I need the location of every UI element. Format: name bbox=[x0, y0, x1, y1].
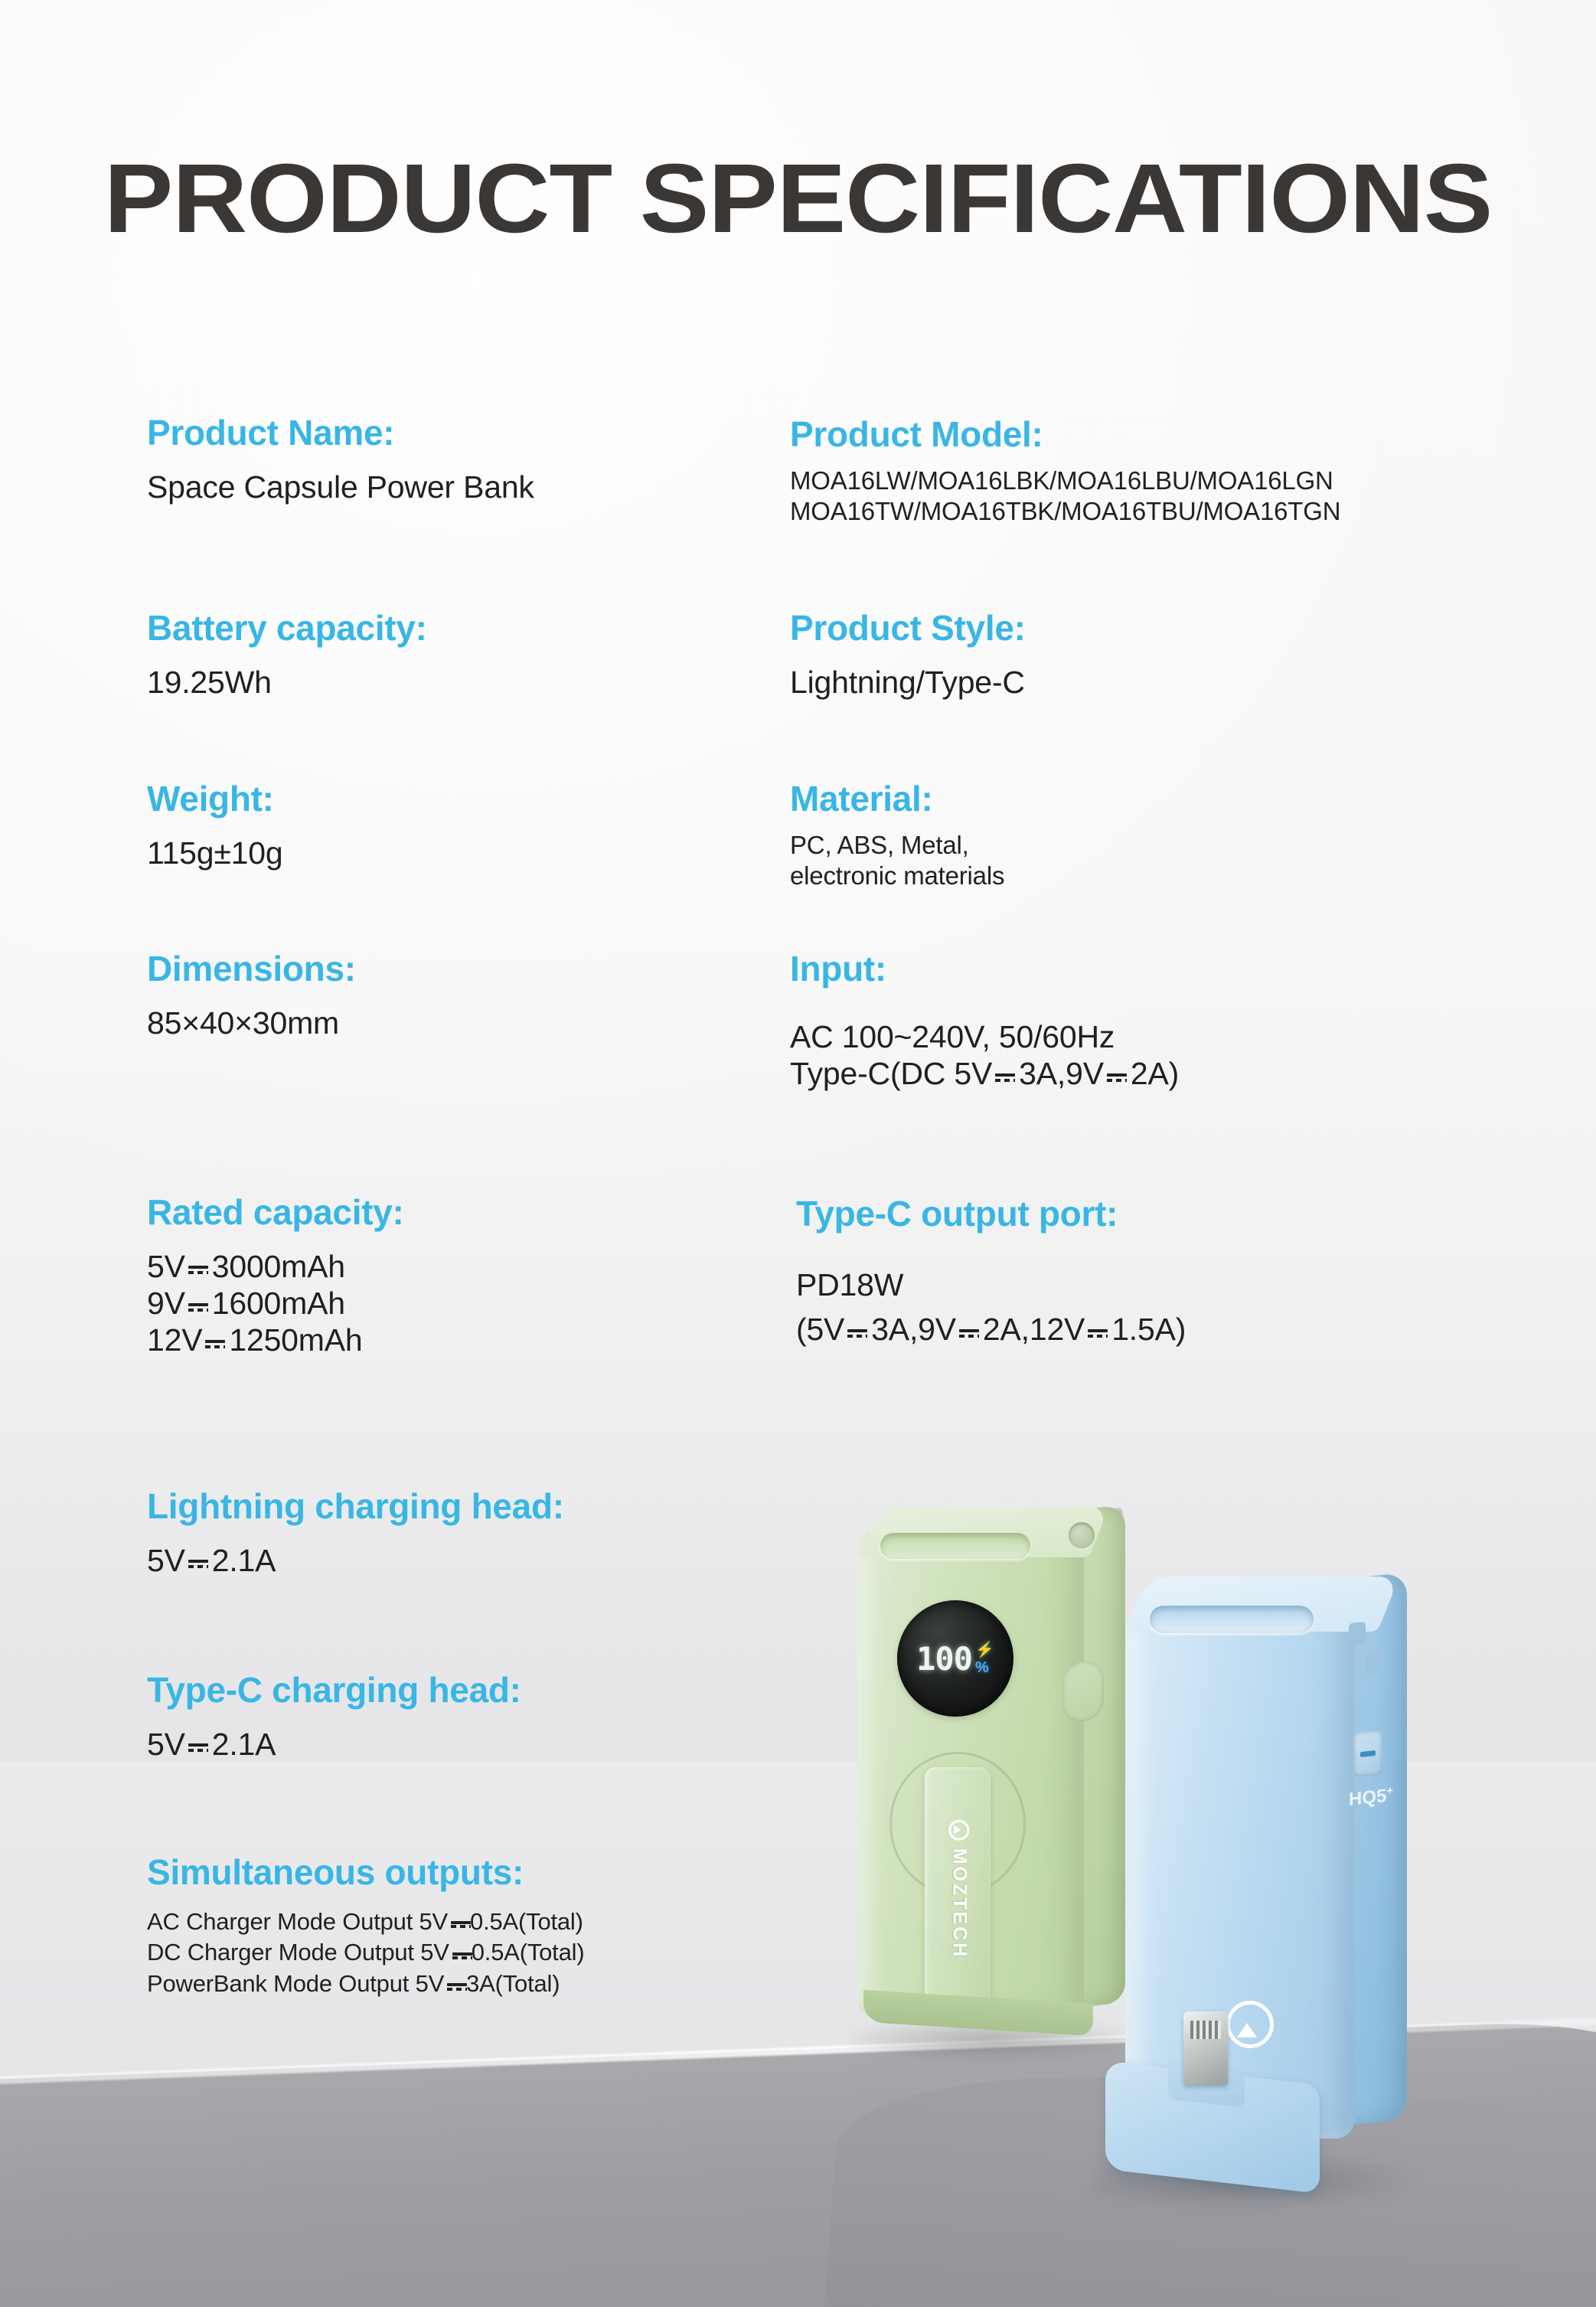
dc-symbol-icon bbox=[1107, 1064, 1127, 1087]
spec-label-product-model: Product Model: bbox=[790, 415, 1340, 455]
typec-output-line-1: PD18W bbox=[796, 1266, 1186, 1303]
simultaneous-row-2: DC Charger Mode Output 5V0.5A(Total) bbox=[147, 1937, 584, 1969]
blue-unit-vent-upper bbox=[1349, 1622, 1366, 1646]
spec-label-typec-output-port: Type-C output port: bbox=[796, 1194, 1186, 1234]
dc-symbol-icon bbox=[451, 1914, 466, 1931]
product-specification-page: PRODUCT SPECIFICATIONS Product Name: Spa… bbox=[0, 0, 1596, 2307]
green-unit-top-slot bbox=[880, 1533, 1030, 1559]
typec-out-5v: (5V bbox=[796, 1312, 844, 1347]
spec-label-typec-charging-head: Type-C charging head: bbox=[147, 1671, 521, 1711]
spec-product-style: Product Style: Lightning/Type-C bbox=[790, 609, 1026, 701]
spec-value-typec-output-port: PD18W (5V3A,9V2A,12V1.5A) bbox=[796, 1266, 1186, 1348]
spec-material: Material: PC, ABS, Metal, electronic mat… bbox=[790, 779, 1004, 892]
simultaneous-row3-mode: PowerBank Mode Output 5V bbox=[147, 1970, 444, 1997]
simultaneous-row2-mode: DC Charger Mode Output 5V bbox=[147, 1939, 449, 1966]
spec-battery-capacity: Battery capacity: 19.25Wh bbox=[147, 609, 427, 701]
dc-symbol-icon bbox=[847, 1320, 867, 1343]
spec-value-product-style: Lightning/Type-C bbox=[790, 664, 1026, 701]
input-5v-3a: 3A,9V bbox=[1019, 1056, 1104, 1091]
input-9v-2a: 2A) bbox=[1131, 1056, 1179, 1091]
page-title: PRODUCT SPECIFICATIONS bbox=[0, 142, 1596, 255]
product-model-line-2: MOA16TW/MOA16TBK/MOA16TBU/MOA16TGN bbox=[790, 496, 1340, 528]
spec-simultaneous-outputs: Simultaneous outputs: AC Charger Mode Ou… bbox=[147, 1853, 584, 2000]
spec-product-model: Product Model: MOA16LW/MOA16LBK/MOA16LBU… bbox=[790, 415, 1340, 528]
spec-value-input: AC 100~240V, 50/60Hz Type-C(DC 5V3A,9V2A… bbox=[790, 1018, 1179, 1093]
spec-label-input: Input: bbox=[790, 949, 1179, 989]
rated-capacity-row-2: 9V1600mAh bbox=[147, 1285, 404, 1322]
simultaneous-row1-mode: AC Charger Mode Output 5V bbox=[147, 1908, 448, 1935]
typec-head-current: 2.1A bbox=[212, 1727, 276, 1762]
typec-out-2a-12v: 2A,12V bbox=[983, 1312, 1085, 1347]
spec-weight: Weight: 115g±10g bbox=[147, 779, 282, 871]
spec-value-product-name: Space Capsule Power Bank bbox=[147, 469, 534, 505]
dc-symbol-icon bbox=[188, 1735, 208, 1758]
simultaneous-row-3: PowerBank Mode Output 5V3A(Total) bbox=[147, 1969, 584, 2000]
port-label-sup: + bbox=[1386, 1784, 1393, 1798]
spec-label-battery-capacity: Battery capacity: bbox=[147, 609, 427, 649]
spec-label-dimensions: Dimensions: bbox=[147, 949, 356, 989]
rated-row1-voltage: 5V bbox=[147, 1249, 185, 1284]
spec-value-material: PC, ABS, Metal, electronic materials bbox=[790, 830, 1004, 893]
dc-symbol-icon bbox=[188, 1551, 208, 1574]
spec-lightning-charging-head: Lightning charging head: 5V2.1A bbox=[147, 1487, 564, 1579]
brand-lockup: MOZTECH bbox=[948, 1819, 971, 1959]
rated-row2-capacity: 1600mAh bbox=[212, 1286, 345, 1321]
spec-value-dimensions: 85×40×30mm bbox=[147, 1005, 356, 1041]
lightning-head-current: 2.1A bbox=[212, 1543, 276, 1578]
charging-bolt-icon: ⚡ bbox=[975, 1642, 994, 1658]
simultaneous-row1-current: 0.5A(Total) bbox=[470, 1908, 583, 1935]
simultaneous-row3-current: 3A(Total) bbox=[466, 1970, 560, 1997]
rated-row3-voltage: 12V bbox=[147, 1322, 202, 1358]
usb-port-insert-icon bbox=[1360, 1750, 1376, 1756]
blue-unit-port-label: HQ5+ bbox=[1349, 1784, 1393, 1811]
brand-name-text: MOZTECH bbox=[948, 1848, 971, 1959]
blue-power-bank: HQ5+ bbox=[1110, 1543, 1431, 2224]
spec-label-simultaneous-outputs: Simultaneous outputs: bbox=[147, 1853, 584, 1893]
spec-value-typec-charging-head: 5V2.1A bbox=[147, 1726, 521, 1763]
spec-input: Input: AC 100~240V, 50/60Hz Type-C(DC 5V… bbox=[790, 949, 1179, 1092]
typec-out-1-5a: 1.5A) bbox=[1111, 1312, 1186, 1347]
typec-out-3a-9v: 3A,9V bbox=[871, 1312, 956, 1347]
typec-head-voltage: 5V bbox=[147, 1727, 185, 1762]
lightning-connector-pins-icon bbox=[1190, 2021, 1221, 2039]
product-photo-group: 100 ⚡ % MOZTECH bbox=[811, 1439, 1596, 2228]
rated-row1-capacity: 3000mAh bbox=[212, 1249, 345, 1284]
spec-value-battery-capacity: 19.25Wh bbox=[147, 664, 427, 701]
spec-label-product-style: Product Style: bbox=[790, 609, 1026, 649]
green-power-bank: 100 ⚡ % MOZTECH bbox=[857, 1485, 1110, 2021]
spec-label-rated-capacity: Rated capacity: bbox=[147, 1193, 404, 1233]
input-line-2: Type-C(DC 5V3A,9V2A) bbox=[790, 1055, 1179, 1092]
spec-label-weight: Weight: bbox=[147, 779, 282, 819]
dc-symbol-icon bbox=[447, 1977, 462, 1994]
spec-value-lightning-charging-head: 5V2.1A bbox=[147, 1542, 564, 1579]
green-unit-led-display: 100 ⚡ % bbox=[897, 1600, 1013, 1717]
spec-typec-charging-head: Type-C charging head: 5V2.1A bbox=[147, 1671, 521, 1763]
moztech-mountain-logo-icon bbox=[949, 1819, 970, 1840]
simultaneous-row2-current: 0.5A(Total) bbox=[472, 1939, 585, 1966]
spec-value-simultaneous-outputs: AC Charger Mode Output 5V0.5A(Total) DC … bbox=[147, 1907, 584, 2001]
dc-symbol-icon bbox=[452, 1946, 468, 1962]
rated-row3-capacity: 1250mAh bbox=[229, 1322, 362, 1358]
spec-label-product-name: Product Name: bbox=[147, 413, 534, 453]
typec-output-line-2: (5V3A,9V2A,12V1.5A) bbox=[796, 1311, 1186, 1348]
material-line-2: electronic materials bbox=[790, 861, 1004, 892]
spec-label-lightning-charging-head: Lightning charging head: bbox=[147, 1487, 564, 1527]
dc-symbol-icon bbox=[205, 1332, 225, 1354]
spec-dimensions: Dimensions: 85×40×30mm bbox=[147, 949, 356, 1041]
blue-unit-body bbox=[1125, 1603, 1355, 2139]
rated-capacity-row-3: 12V1250mAh bbox=[147, 1322, 404, 1358]
battery-percent-value: 100 bbox=[916, 1640, 972, 1678]
lightning-connector-icon bbox=[1183, 2011, 1228, 2085]
rated-capacity-row-1: 5V3000mAh bbox=[147, 1248, 404, 1285]
spec-product-name: Product Name: Space Capsule Power Bank bbox=[147, 413, 534, 505]
display-indicators: ⚡ % bbox=[975, 1642, 994, 1675]
spec-value-product-model: MOA16LW/MOA16LBK/MOA16LBU/MOA16LGN MOA16… bbox=[790, 466, 1340, 528]
lightning-head-voltage: 5V bbox=[147, 1543, 185, 1578]
blue-unit-usb-a-port bbox=[1353, 1730, 1382, 1777]
dc-symbol-icon bbox=[188, 1294, 208, 1317]
product-model-line-1: MOA16LW/MOA16LBK/MOA16LBU/MOA16LGN bbox=[790, 466, 1340, 497]
green-prong-pivot-icon bbox=[1069, 1522, 1095, 1548]
input-line-1: AC 100~240V, 50/60Hz bbox=[790, 1018, 1179, 1055]
dc-symbol-icon bbox=[959, 1320, 979, 1343]
spec-value-weight: 115g±10g bbox=[147, 835, 282, 871]
material-line-1: PC, ABS, Metal, bbox=[790, 830, 1004, 861]
simultaneous-row-1: AC Charger Mode Output 5V0.5A(Total) bbox=[147, 1907, 584, 1938]
blue-unit-top-slot bbox=[1150, 1606, 1314, 1633]
port-label-text: HQ5 bbox=[1349, 1786, 1386, 1810]
spec-typec-output-port: Type-C output port: PD18W (5V3A,9V2A,12V… bbox=[796, 1194, 1186, 1348]
dc-symbol-icon bbox=[1088, 1320, 1108, 1343]
green-unit-power-button bbox=[1062, 1659, 1104, 1724]
blue-unit-vent-lower bbox=[1366, 1652, 1381, 1675]
percent-sign-icon: % bbox=[975, 1660, 994, 1675]
rated-row2-voltage: 9V bbox=[147, 1286, 185, 1321]
spec-value-rated-capacity: 5V3000mAh 9V1600mAh 12V1250mAh bbox=[147, 1248, 404, 1359]
spec-rated-capacity: Rated capacity: 5V3000mAh 9V1600mAh 12V1… bbox=[147, 1193, 404, 1359]
input-typec-prefix: Type-C(DC 5V bbox=[790, 1056, 992, 1091]
dc-symbol-icon bbox=[188, 1257, 208, 1280]
spec-label-material: Material: bbox=[790, 779, 1004, 819]
dc-symbol-icon bbox=[995, 1064, 1015, 1087]
green-unit-brand-area: MOZTECH bbox=[926, 1786, 992, 1992]
moztech-mountain-logo-icon bbox=[1226, 2001, 1274, 2048]
